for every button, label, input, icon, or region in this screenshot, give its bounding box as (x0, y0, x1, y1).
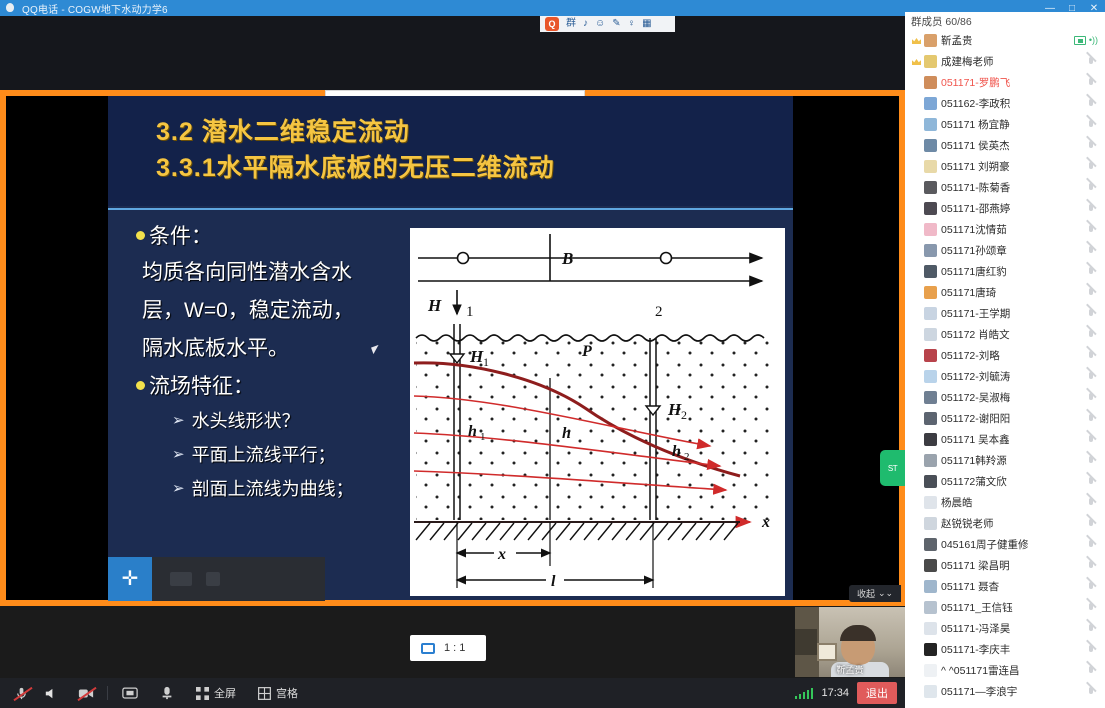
side-green-tab[interactable]: ST (880, 450, 905, 486)
member-row[interactable]: 051162-李政积 (905, 93, 1105, 114)
member-name: 051171沈情茹 (941, 222, 1085, 237)
member-name: 051171 侯英杰 (941, 138, 1085, 153)
crown-placeholder (911, 224, 922, 235)
emoji-icon[interactable]: ☺ (595, 19, 605, 29)
member-name: 051171-冯泽昊 (941, 621, 1085, 636)
avatar (924, 538, 937, 551)
crown-placeholder (911, 497, 922, 508)
member-count-label: 群成员 60/86 (905, 12, 1105, 30)
list-item: ➢ 水头线形状？ (172, 409, 406, 433)
svg-text:H: H (469, 347, 484, 366)
member-name: 051171 杨宜静 (941, 117, 1085, 132)
member-mic-muted-icon[interactable] (1085, 244, 1098, 257)
member-mic-muted-icon[interactable] (1085, 55, 1098, 68)
member-row[interactable]: ^ ^051171雷连昌 (905, 660, 1105, 681)
divider (107, 686, 108, 700)
avatar (924, 118, 937, 131)
video-doorway (795, 629, 817, 655)
microphone-muted-icon[interactable] (14, 686, 29, 701)
member-row[interactable]: 051171-陈菊香 (905, 177, 1105, 198)
member-list: 靳孟贵•))成建梅老师051171-罗鹏飞051162-李政积051171 杨宜… (905, 30, 1105, 702)
member-row[interactable]: 051171唐琦 (905, 282, 1105, 303)
exit-meeting-button[interactable]: 退出 (857, 682, 897, 704)
window-title: QQ电话 - COGW地下水动力学6 (22, 1, 168, 16)
crown-placeholder (911, 581, 922, 592)
slide-text-column: 条件： 均质各向同性潜水含水 层，W=0，稳定流动， 隔水底板水平。 流场特征：… (136, 222, 406, 511)
raise-hand-icon[interactable] (160, 686, 174, 700)
member-row[interactable]: 051172-吴淑梅 (905, 387, 1105, 408)
member-mic-muted-icon[interactable] (1085, 685, 1098, 698)
member-name: 051172-刘略 (941, 348, 1085, 363)
avatar (924, 55, 937, 68)
member-name: 051171 吴本鑫 (941, 432, 1085, 447)
qq-penguin-icon (3, 2, 17, 14)
crown-placeholder (911, 602, 922, 613)
member-mic-muted-icon[interactable] (1085, 664, 1098, 677)
member-mic-muted-icon[interactable] (1085, 202, 1098, 215)
arrow-bullet-icon: ➢ (172, 443, 185, 467)
member-name: 051172-吴淑梅 (941, 390, 1085, 405)
admin-crown-icon (911, 35, 922, 46)
avatar (924, 685, 937, 698)
crown-placeholder (911, 329, 922, 340)
fullscreen-button[interactable]: 全屏 (196, 685, 236, 701)
crown-placeholder (911, 665, 922, 676)
collapse-button[interactable]: 收起 ⌄⌄ (849, 585, 901, 602)
member-row[interactable]: 051171-冯泽昊 (905, 618, 1105, 639)
crown-placeholder (911, 455, 922, 466)
member-name: 051171-邵燕婷 (941, 201, 1085, 216)
avatar (924, 601, 937, 614)
collapse-label: 收起 (857, 587, 875, 600)
member-row[interactable]: 051171_王信钰 (905, 597, 1105, 618)
member-name: 靳孟贵 (941, 33, 1074, 48)
crown-placeholder (911, 434, 922, 445)
slide-title-line2: 3.3.1水平隔水底板的无压二维流动 (156, 148, 555, 184)
slide-bullet-conditions: 条件： (136, 222, 406, 252)
list-item: ➢ 平面上流线平行； (172, 443, 406, 467)
member-mic-muted-icon[interactable] (1085, 328, 1098, 341)
member-mic-muted-icon[interactable] (1085, 559, 1098, 572)
member-name: 杨晨皓 (941, 495, 1085, 510)
female-icon[interactable]: ♀ (628, 19, 636, 29)
member-row[interactable]: 赵锐锐老师 (905, 513, 1105, 534)
avatar (924, 223, 937, 236)
member-mic-muted-icon[interactable] (1085, 622, 1098, 635)
bullet-label: 流场特征： (149, 372, 254, 402)
member-name: 051172 肖皓文 (941, 327, 1085, 342)
bullet-label: 条件： (149, 222, 212, 252)
member-name: 051171孙颂章 (941, 243, 1085, 258)
slide-paragraph-line2: 层，W=0，稳定流动， (142, 294, 406, 328)
member-casting-status: •)) (1074, 36, 1098, 45)
member-mic-muted-icon[interactable] (1085, 391, 1098, 404)
member-mic-muted-icon[interactable] (1085, 349, 1098, 362)
avatar (924, 622, 937, 635)
member-name: 051171-王学期 (941, 306, 1085, 321)
crown-placeholder (911, 77, 922, 88)
member-row[interactable]: 051171 杨宜静 (905, 114, 1105, 135)
member-name: 051171 聂杳 (941, 579, 1085, 594)
member-row[interactable]: 051171-邵燕婷 (905, 198, 1105, 219)
slide-divider (108, 208, 793, 210)
member-mic-muted-icon[interactable] (1085, 76, 1098, 89)
member-row[interactable]: 051171 聂杳 (905, 576, 1105, 597)
grid-icon[interactable]: ▦ (642, 19, 651, 29)
member-row[interactable]: 051171韩羚源 (905, 450, 1105, 471)
avatar (924, 34, 937, 47)
crown-placeholder (911, 476, 922, 487)
member-name: 051171-陈菊香 (941, 180, 1085, 195)
speaking-icon: •)) (1089, 36, 1098, 45)
member-mic-muted-icon[interactable] (1085, 643, 1098, 656)
member-mic-muted-icon[interactable] (1085, 538, 1098, 551)
member-row[interactable]: 051171-李庆丰 (905, 639, 1105, 660)
signal-strength-icon (795, 688, 814, 699)
screen-share-icon (1074, 36, 1086, 45)
avatar (924, 349, 937, 362)
svg-text:l: l (551, 573, 556, 590)
crown-placeholder (911, 287, 922, 298)
crown-placeholder (911, 560, 922, 571)
member-name: 051172蒲文欣 (941, 474, 1085, 489)
arrow-bullet-icon: ➢ (172, 409, 185, 433)
svg-text:H: H (427, 296, 442, 315)
avatar (924, 307, 937, 320)
crown-placeholder (911, 392, 922, 403)
member-row[interactable]: 杨晨皓 (905, 492, 1105, 513)
shapes-icon[interactable] (206, 572, 220, 586)
member-name: ^ ^051171雷连昌 (941, 663, 1085, 678)
slide-bullet-flowfield: 流场特征： (136, 372, 406, 402)
crown-placeholder (911, 644, 922, 655)
member-name: 051171韩羚源 (941, 453, 1085, 468)
crosshair-icon: ✛ (122, 569, 139, 589)
member-name: 051171 梁昌明 (941, 558, 1085, 573)
member-mic-muted-icon[interactable] (1085, 307, 1098, 320)
qq-logo-icon[interactable]: Q (545, 17, 559, 31)
avatar (924, 370, 937, 383)
chevron-down-icon: ⌄⌄ (878, 588, 893, 599)
member-name: 045161周子健重修 (941, 537, 1085, 552)
member-name: 051171_王信钰 (941, 600, 1085, 615)
avatar (924, 580, 937, 593)
meeting-controls-bar: 全屏 宫格 17:34 退出 (0, 678, 905, 708)
avatar (924, 559, 937, 572)
arrow-bullet-icon: ➢ (172, 477, 185, 501)
member-mic-muted-icon[interactable] (1085, 454, 1098, 467)
crown-placeholder (911, 539, 922, 550)
slide-title-line1: 3.2 潜水二维稳定流动 (156, 112, 410, 148)
annotation-toolbar: ✛ (108, 557, 325, 601)
avatar (924, 181, 937, 194)
self-video-tile[interactable]: 靳孟贵 (795, 607, 905, 677)
eraser-icon[interactable] (170, 572, 192, 586)
bullet-dot-icon (136, 381, 145, 390)
member-row[interactable]: 051171 刘朔豪 (905, 156, 1105, 177)
avatar (924, 202, 937, 215)
member-row[interactable]: 045161周子健重修 (905, 534, 1105, 555)
clock-label: 17:34 (821, 687, 849, 699)
member-row[interactable]: 051172-刘略 (905, 345, 1105, 366)
svg-text:1: 1 (466, 304, 474, 320)
svg-text:P: P (581, 343, 592, 360)
member-row[interactable]: 051172 肖皓文 (905, 324, 1105, 345)
monitor-icon (421, 643, 435, 654)
avatar (924, 244, 937, 257)
member-mic-muted-icon[interactable] (1085, 601, 1098, 614)
member-name: 051171 刘朔豪 (941, 159, 1085, 174)
svg-text:1: 1 (480, 431, 486, 443)
member-row[interactable]: 051171沈情茹 (905, 219, 1105, 240)
member-mic-muted-icon[interactable] (1085, 139, 1098, 152)
qq-meeting-window: QQ电话 - COGW地下水动力学6 — □ ✕ Q 群 ♪ ☺ ✎ ♀ ▦ 正… (0, 0, 1105, 708)
member-name: 赵锐锐老师 (941, 516, 1085, 531)
avatar (924, 643, 937, 656)
screen-share-icon[interactable] (122, 687, 138, 700)
avatar (924, 391, 937, 404)
crown-placeholder (911, 686, 922, 697)
member-row[interactable]: 051172蒲文欣 (905, 471, 1105, 492)
member-name: 051171—李浪宇 (941, 684, 1085, 699)
member-name: 051171-罗鹏飞 (941, 75, 1085, 90)
member-mic-muted-icon[interactable] (1085, 370, 1098, 383)
svg-text:1: 1 (483, 355, 489, 369)
crown-placeholder (911, 161, 922, 172)
avatar (924, 475, 937, 488)
member-row[interactable]: 051171-罗鹏飞 (905, 72, 1105, 93)
avatar (924, 76, 937, 89)
pen-icon[interactable]: ✎ (612, 19, 620, 29)
member-mic-muted-icon[interactable] (1085, 265, 1098, 278)
member-name: 051172-刘毓涛 (941, 369, 1085, 384)
admin-crown-icon (911, 56, 922, 67)
taskbar-right-zone: 17:34 退出 (795, 682, 905, 704)
avatar (924, 412, 937, 425)
member-mic-muted-icon[interactable] (1085, 223, 1098, 236)
member-name: 成建梅老师 (941, 54, 1085, 69)
member-name: 051172-谢阳阳 (941, 411, 1085, 426)
member-name: 051171-李庆丰 (941, 642, 1085, 657)
member-mic-muted-icon[interactable] (1085, 580, 1098, 593)
member-row[interactable]: 051172-谢阳阳 (905, 408, 1105, 429)
avatar (924, 265, 937, 278)
crown-placeholder (911, 518, 922, 529)
slide-paragraph-line3: 隔水底板水平。 (142, 332, 406, 366)
crown-placeholder (911, 371, 922, 382)
grid-view-label: 宫格 (276, 685, 298, 701)
member-row[interactable]: 051171 侯英杰 (905, 135, 1105, 156)
music-icon[interactable]: ♪ (583, 19, 588, 29)
grid-view-button[interactable]: 宫格 (258, 685, 298, 701)
svg-text:B: B (561, 249, 573, 268)
crown-placeholder (911, 413, 922, 424)
member-mic-muted-icon[interactable] (1085, 97, 1098, 110)
avatar (924, 160, 937, 173)
avatar (924, 664, 937, 677)
crown-placeholder (911, 308, 922, 319)
crown-placeholder (911, 203, 922, 214)
crown-placeholder (911, 119, 922, 130)
crown-placeholder (911, 245, 922, 256)
group-icon[interactable]: 群 (566, 19, 576, 29)
svg-text:2: 2 (684, 451, 690, 463)
avatar (924, 97, 937, 110)
top-dark-strip: Q 群 ♪ ☺ ✎ ♀ ▦ (0, 16, 905, 90)
member-name: 051162-李政积 (941, 96, 1085, 111)
crown-placeholder (911, 182, 922, 193)
camera-muted-icon[interactable] (78, 687, 94, 700)
member-mic-muted-icon[interactable] (1085, 517, 1098, 530)
member-mic-muted-icon[interactable] (1085, 433, 1098, 446)
member-mic-muted-icon[interactable] (1085, 118, 1098, 131)
avatar (924, 328, 937, 341)
avatar (924, 517, 937, 530)
group-member-panel: 群成员 60/86 靳孟贵•))成建梅老师051171-罗鹏飞051162-李政… (905, 12, 1105, 708)
slide-paragraph-line1: 均质各向同性潜水含水 (142, 256, 406, 290)
zoom-ratio-label: 1 : 1 (444, 642, 465, 654)
avatar (924, 433, 937, 446)
self-video-name: 靳孟贵 (795, 663, 905, 676)
hydrogeology-diagram: B H 1 2 H 1 H 2 (410, 228, 785, 596)
member-row[interactable]: 051171 梁昌明 (905, 555, 1105, 576)
svg-text:h: h (468, 423, 477, 440)
svg-text:h: h (562, 425, 571, 442)
member-row[interactable]: 051171 吴本鑫 (905, 429, 1105, 450)
annotate-button[interactable]: ✛ (108, 557, 152, 601)
qq-float-toolbar: Q 群 ♪ ☺ ✎ ♀ ▦ (540, 16, 675, 32)
speaker-icon[interactable] (43, 686, 58, 701)
avatar (924, 139, 937, 152)
crown-placeholder (911, 266, 922, 277)
member-mic-muted-icon[interactable] (1085, 181, 1098, 194)
member-row[interactable]: 051171—李浪宇 (905, 681, 1105, 702)
avatar (924, 496, 937, 509)
list-item-label: 水头线形状？ (192, 409, 300, 433)
list-item-label: 平面上流线平行； (192, 443, 336, 467)
member-row[interactable]: 靳孟贵•)) (905, 30, 1105, 51)
member-row[interactable]: 成建梅老师 (905, 51, 1105, 72)
member-mic-muted-icon[interactable] (1085, 475, 1098, 488)
member-row[interactable]: 051171-王学期 (905, 303, 1105, 324)
crown-placeholder (911, 98, 922, 109)
svg-text:2: 2 (655, 304, 663, 320)
crown-placeholder (911, 140, 922, 151)
crown-placeholder (911, 350, 922, 361)
svg-text:H: H (667, 400, 682, 419)
member-row[interactable]: 051171孙颂章 (905, 240, 1105, 261)
member-mic-muted-icon[interactable] (1085, 496, 1098, 509)
member-row[interactable]: 051171唐红豹 (905, 261, 1105, 282)
video-picture-frame (817, 643, 837, 661)
svg-text:2: 2 (681, 408, 687, 422)
zoom-ratio-button[interactable]: 1 : 1 (410, 635, 486, 661)
member-row[interactable]: 051172-刘毓涛 (905, 366, 1105, 387)
member-mic-muted-icon[interactable] (1085, 286, 1098, 299)
crown-placeholder (911, 623, 922, 634)
avatar (924, 286, 937, 299)
svg-text:h: h (672, 443, 681, 460)
fullscreen-label: 全屏 (214, 685, 236, 701)
member-name: 051171唐琦 (941, 285, 1085, 300)
member-name: 051171唐红豹 (941, 264, 1085, 279)
list-item: ➢ 剖面上流线为曲线； (172, 477, 406, 501)
slide-sub-list: ➢ 水头线形状？ ➢ 平面上流线平行； ➢ 剖面上流线为曲线； (172, 409, 406, 501)
list-item-label: 剖面上流线为曲线； (192, 477, 354, 501)
diagram-svg: B H 1 2 H 1 H 2 (410, 228, 785, 596)
avatar (924, 454, 937, 467)
svg-text:x: x (761, 514, 770, 531)
member-mic-muted-icon[interactable] (1085, 412, 1098, 425)
member-mic-muted-icon[interactable] (1085, 160, 1098, 173)
svg-text:x: x (497, 546, 506, 563)
bullet-dot-icon (136, 231, 145, 240)
